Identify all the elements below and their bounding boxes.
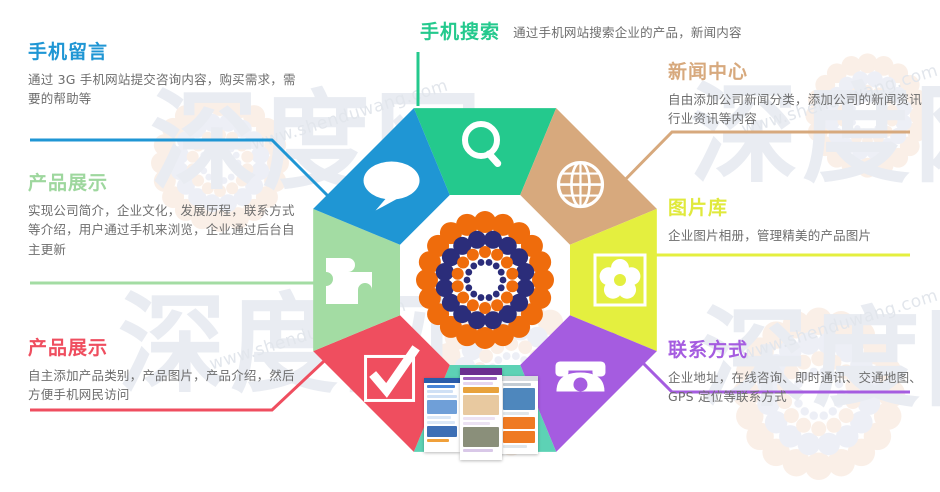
block-news-center[interactable]: 新闻中心 自由添加公司新闻分类，添加公司的新闻资讯行业资讯等内容 — [668, 62, 930, 129]
phone-mockups — [424, 368, 544, 460]
block-product-display-green[interactable]: 产品展示 实现公司简介，企业文化，发展历程，联系方式等介绍，用户通过手机来浏览，… — [28, 173, 296, 259]
block-description: 企业图片相册，管理精美的产品图片 — [668, 226, 930, 245]
globe-icon — [558, 163, 602, 207]
phone-mockup-center — [460, 368, 502, 460]
block-contact-info[interactable]: 联系方式 企业地址，在线咨询、即时通讯、交通地图、GPS 定位等联系方式 — [668, 340, 930, 407]
block-description: 实现公司简介，企业文化，发展历程，联系方式等介绍，用户通过手机来浏览，企业通过后… — [28, 201, 296, 259]
block-description: 自由添加公司新闻分类，添加公司的新闻资讯行业资讯等内容 — [668, 90, 930, 129]
block-mobile-message[interactable]: 手机留言 通过 3G 手机网站提交咨询内容，购买需求，需要的帮助等 — [28, 42, 308, 109]
block-title: 产品展示 — [28, 338, 296, 359]
block-description: 通过手机网站搜索企业的产品，新闻内容 — [513, 23, 742, 42]
block-mobile-search[interactable]: 手机搜索 通过手机网站搜索企业的产品，新闻内容 — [420, 22, 850, 43]
block-title: 手机搜索 — [420, 22, 500, 43]
block-description: 自主添加产品类别，产品图片，产品介绍，然后方便手机网民访问 — [28, 366, 296, 405]
block-product-display-red[interactable]: 产品展示 自主添加产品类别，产品图片，产品介绍，然后方便手机网民访问 — [28, 338, 296, 405]
telephone-icon — [555, 361, 605, 391]
phone-mockup-left — [424, 378, 460, 452]
block-image-gallery[interactable]: 图片库 企业图片相册，管理精美的产品图片 — [668, 198, 930, 245]
phone-mockup-right — [500, 376, 538, 454]
block-title: 新闻中心 — [668, 62, 930, 83]
dot-mandala — [416, 211, 554, 349]
block-title: 联系方式 — [668, 340, 930, 361]
block-title: 图片库 — [668, 198, 930, 219]
infographic-canvas: 深度网 深度网 深度网 深度网 www.shenduwang.com www.s… — [0, 0, 940, 463]
block-title: 手机留言 — [28, 42, 308, 63]
block-description: 企业地址，在线咨询、即时通讯、交通地图、GPS 定位等联系方式 — [668, 368, 930, 407]
block-title: 产品展示 — [28, 173, 296, 194]
block-description: 通过 3G 手机网站提交咨询内容，购买需求，需要的帮助等 — [28, 70, 308, 109]
